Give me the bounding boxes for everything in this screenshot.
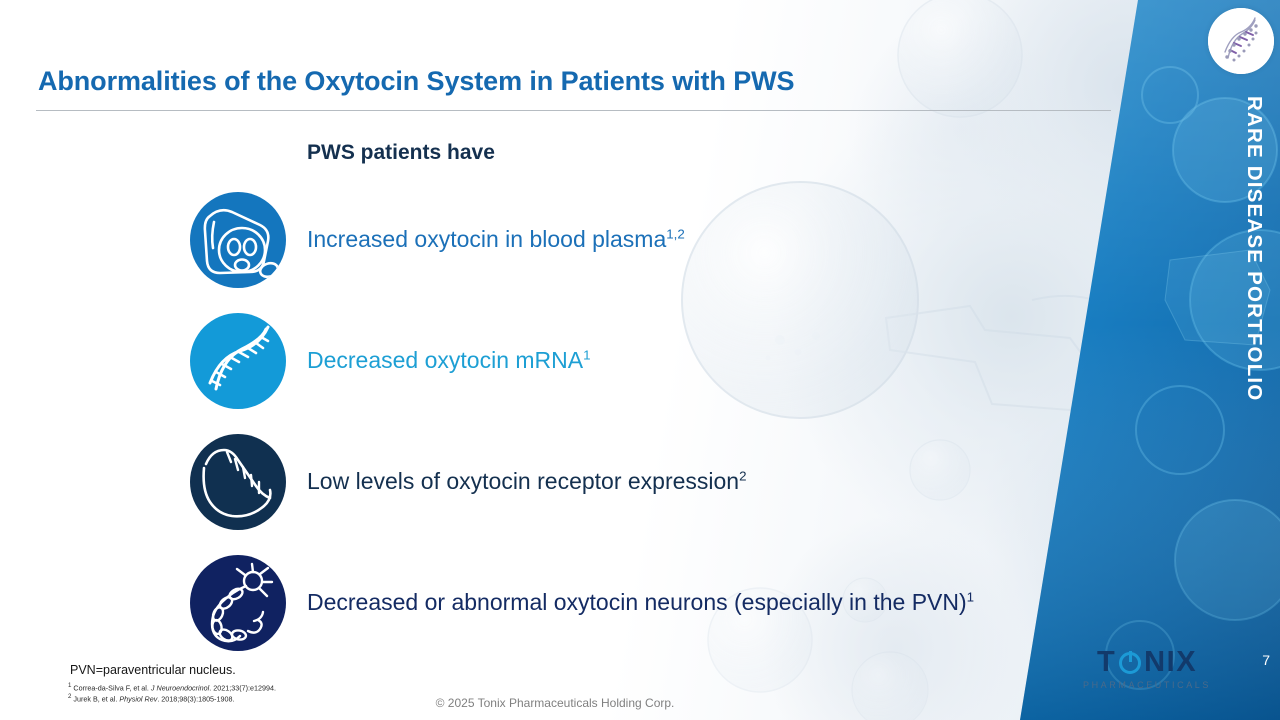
list-item-text: Increased oxytocin in blood plasma: [307, 226, 666, 252]
list-item-text: Low levels of oxytocin receptor expressi…: [307, 468, 739, 494]
reference-marker: 2: [739, 469, 746, 484]
reference-marker: 1,2: [666, 227, 685, 242]
list-item-label: Decreased oxytocin mRNA1: [307, 348, 591, 373]
reference-marker: 1: [583, 348, 590, 363]
list-item-label: Decreased or abnormal oxytocin neurons (…: [307, 590, 974, 615]
reference-number: 1: [68, 682, 71, 689]
list-item: Decreased or abnormal oxytocin neurons (…: [190, 555, 1150, 651]
copyright-text: © 2025 Tonix Pharmaceuticals Holding Cor…: [436, 696, 845, 710]
tonix-tagline: PHARMACEUTICALS: [1082, 680, 1212, 690]
portfolio-label: RARE DISEASE PORTFOLIO: [1242, 96, 1266, 401]
oxytocin-receptor-icon: [190, 434, 286, 530]
reference-item: 1 Correa-da-Silva F, et al. J Neuroendoc…: [68, 682, 276, 693]
list-item-text: Decreased oxytocin mRNA: [307, 347, 583, 373]
tonix-letter-t: T: [1097, 648, 1116, 677]
list-item-label: Low levels of oxytocin receptor expressi…: [307, 469, 747, 494]
slide-number: 7: [1262, 652, 1270, 668]
neuron-icon: [190, 555, 286, 651]
slide: Abnormalities of the Oxytocin System in …: [0, 0, 1280, 720]
reference-marker: 1: [967, 590, 974, 605]
mrna-helix-icon: [190, 313, 286, 409]
tonix-letter-x: X: [1176, 648, 1197, 677]
reference-authors: Correa-da-Silva F, et al.: [73, 683, 149, 692]
list-item-text: Decreased or abnormal oxytocin neurons (…: [307, 589, 967, 615]
tonix-wordmark: T N I X: [1082, 648, 1212, 677]
tonix-o-icon: [1117, 650, 1143, 676]
page-title: Abnormalities of the Oxytocin System in …: [38, 66, 794, 97]
reference-citation: . 2021;33(7):e12994.: [209, 683, 276, 692]
blood-vessel-icon: [190, 192, 286, 288]
abbreviation-note: PVN=paraventricular nucleus.: [70, 663, 236, 677]
tonix-letter-i: I: [1167, 648, 1177, 677]
tonix-logo: T N I X PHARMACEUTICALS: [1082, 648, 1212, 690]
reference-journal: J Neuroendocrinol: [151, 683, 209, 692]
list-item: Decreased oxytocin mRNA1: [190, 313, 1150, 409]
dna-helix-icon: [1208, 8, 1274, 74]
tonix-letter-n: N: [1144, 648, 1166, 677]
intro-label: PWS patients have: [307, 141, 495, 165]
copyright-notice: © 2025 Tonix Pharmaceuticals Holding Cor…: [0, 696, 1280, 710]
list-item-label: Increased oxytocin in blood plasma1,2: [307, 227, 685, 252]
title-divider: [36, 110, 1111, 111]
list-item: Low levels of oxytocin receptor expressi…: [190, 434, 1150, 530]
list-item: Increased oxytocin in blood plasma1,2: [190, 192, 1150, 288]
